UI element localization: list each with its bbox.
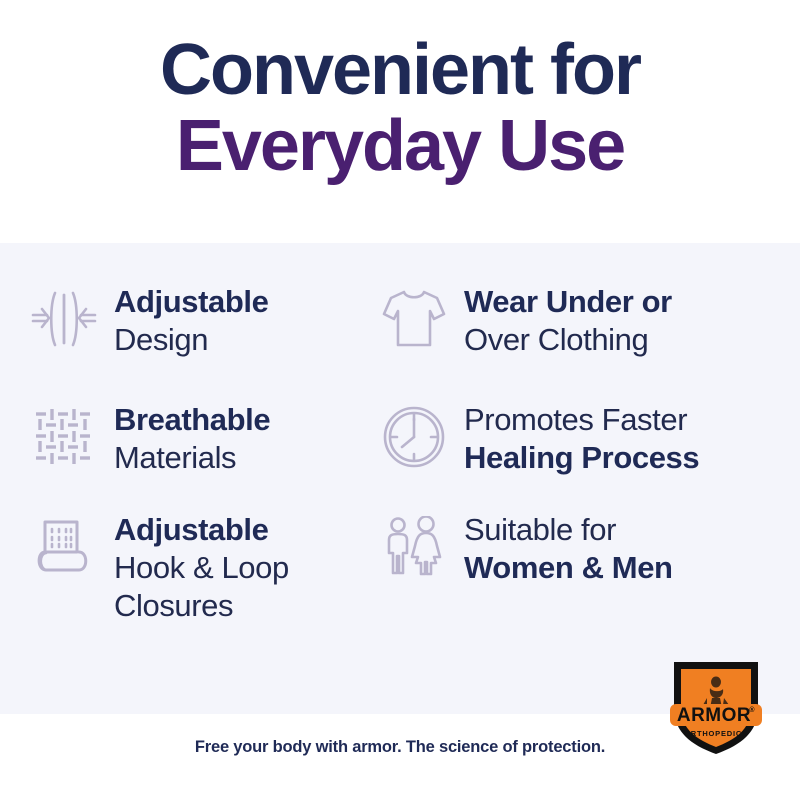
page-title-line-2: Everyday Use [0,108,800,184]
feature-line-1: Adjustable [114,511,289,549]
feature-line-1: Wear Under or [464,283,672,321]
man-woman-icon [378,511,450,583]
feature-healing-process: Promotes Faster Healing Process [368,399,800,509]
feature-labels: Adjustable Design [114,281,268,359]
footer-tagline: Free your body with armor. The science o… [0,738,800,757]
logo-brand-text: ARMOR [677,705,751,726]
tshirt-icon [378,283,450,355]
feature-labels: Breathable Materials [114,399,270,477]
logo-subtitle-text: ORTHOPEDICS [684,729,748,738]
features-panel: Adjustable Design Wear Under or Over Clo… [0,243,800,714]
feature-suitable-women-men: Suitable for Women & Men [368,509,800,639]
clock-icon [378,401,450,473]
feature-wear-under-or-over: Wear Under or Over Clothing [368,281,800,399]
adjustable-arrows-icon [28,283,100,355]
velcro-roll-icon [28,511,100,583]
feature-line-3: Closures [114,587,289,625]
feature-labels: Adjustable Hook & Loop Closures [114,509,289,625]
infographic-canvas: Convenient for Everyday Use [0,0,800,800]
feature-line-2: Design [114,321,268,359]
feature-line-1: Suitable for [464,511,673,549]
feature-line-1: Adjustable [114,283,268,321]
feature-line-2: Healing Process [464,439,699,477]
feature-adjustable-design: Adjustable Design [0,281,368,399]
feature-labels: Promotes Faster Healing Process [464,399,699,477]
page-title: Convenient for Everyday Use [0,32,800,184]
features-grid: Adjustable Design Wear Under or Over Clo… [0,243,800,714]
logo-registered-mark: ® [749,706,755,714]
feature-line-2: Hook & Loop [114,549,289,587]
feature-line-2: Materials [114,439,270,477]
woven-mesh-icon [28,401,100,473]
feature-hook-and-loop-closures: Adjustable Hook & Loop Closures [0,509,368,639]
page-title-line-1: Convenient for [0,32,800,108]
feature-line-1: Breathable [114,401,270,439]
feature-breathable-materials: Breathable Materials [0,399,368,509]
feature-labels: Suitable for Women & Men [464,509,673,587]
feature-line-2: Over Clothing [464,321,672,359]
feature-line-1: Promotes Faster [464,401,699,439]
feature-labels: Wear Under or Over Clothing [464,281,672,359]
feature-line-2: Women & Men [464,549,673,587]
